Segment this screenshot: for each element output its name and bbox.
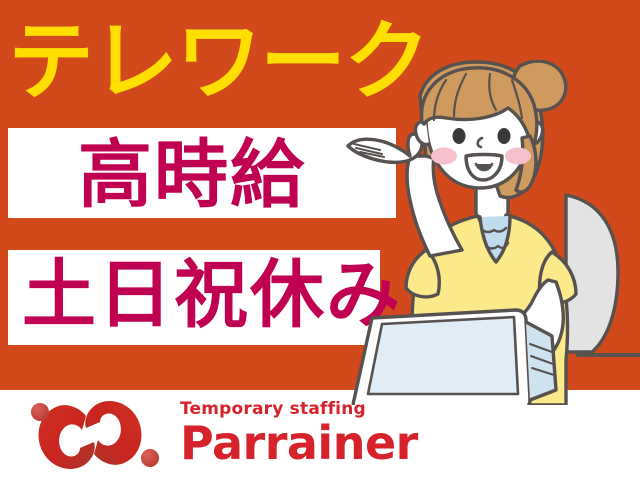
woman-at-laptop-illustration xyxy=(330,60,640,405)
brand-name: Parrainer xyxy=(180,420,418,466)
telework-recruitment-banner: テレワーク 高時給 土日祝休み xyxy=(0,0,640,480)
interlocking-loops-logo-icon xyxy=(24,396,172,474)
benefit-label-high-wage: 高時給 xyxy=(78,138,306,212)
